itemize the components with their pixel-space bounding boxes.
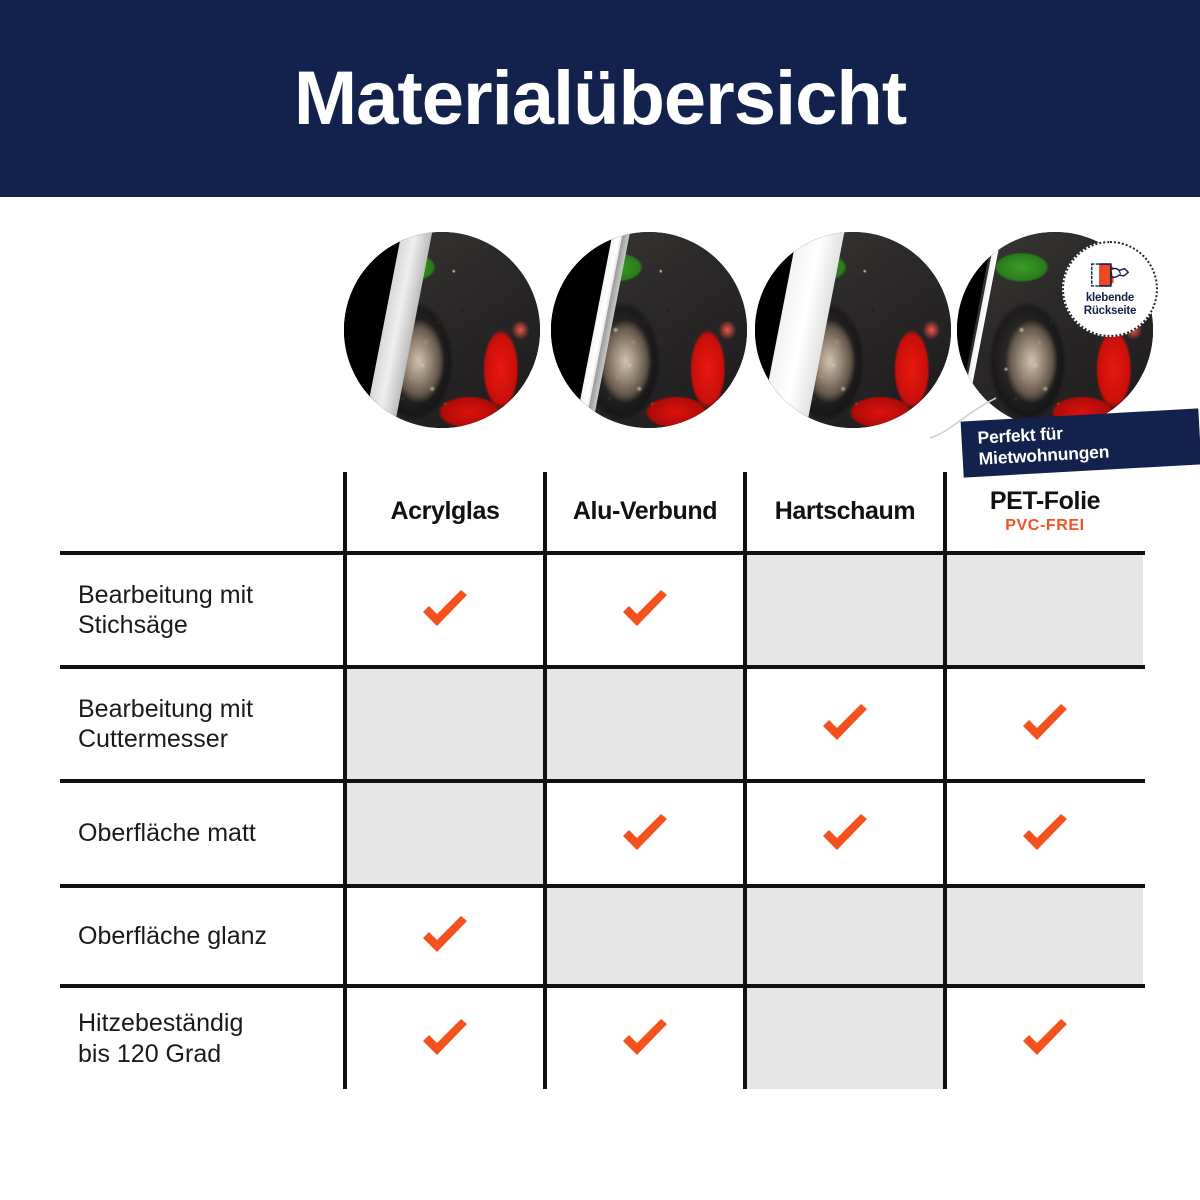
cell-matt-alu-verbund	[543, 783, 743, 884]
cell-glanz-pet-folie	[943, 888, 1143, 984]
row-label-line-1: Oberfläche glanz	[78, 922, 267, 950]
cell-glanz-acrylglas	[343, 888, 543, 984]
table-row-cuttermesser: Bearbeitung mit Cuttermesser	[60, 665, 1145, 779]
product-image-hartschaum	[755, 232, 951, 428]
row-label-line-1: Bearbeitung mit	[78, 581, 253, 609]
adhesive-back-label: klebende Rückseite	[1084, 292, 1137, 318]
column-header-hartschaum: Hartschaum	[743, 472, 943, 551]
cell-matt-pet-folie	[943, 783, 1143, 884]
cell-glanz-hartschaum	[743, 888, 943, 984]
column-header-badge-pvc-frei: PVC-FREI	[1005, 517, 1084, 535]
check-icon	[416, 912, 474, 960]
row-label-line-2: Cuttermesser	[78, 725, 228, 753]
check-icon	[816, 700, 874, 748]
rental-suitable-ribbon: Perfekt für Mietwohnungen	[961, 408, 1200, 477]
check-icon	[616, 810, 674, 858]
row-label-line-1: Hitzebeständig	[78, 1009, 243, 1037]
table-row-oberflaeche-matt: Oberfläche matt	[60, 779, 1145, 884]
cell-hitze-hartschaum	[743, 988, 943, 1089]
cell-cuttermesser-alu-verbund	[543, 669, 743, 779]
row-label: Oberfläche glanz	[60, 888, 343, 984]
table-row-stichsaege: Bearbeitung mit Stichsäge	[60, 551, 1145, 665]
badge-line-1: klebende	[1086, 292, 1134, 304]
header-banner: Materialübersicht	[0, 0, 1200, 197]
adhesive-back-badge: klebende Rückseite	[1062, 241, 1158, 337]
product-photo-circle	[344, 232, 540, 428]
cell-stichsaege-alu-verbund	[543, 555, 743, 665]
column-header-pet-folie: PET-Folie PVC-FREI	[943, 472, 1143, 551]
column-header-alu-verbund: Alu-Verbund	[543, 472, 743, 551]
material-overview-page: Materialübersicht	[0, 0, 1200, 1200]
table-row-hitzebestaendig: Hitzebeständig bis 120 Grad	[60, 984, 1145, 1089]
row-label: Bearbeitung mit Cuttermesser	[60, 669, 343, 779]
cell-hitze-acrylglas	[343, 988, 543, 1089]
column-header-label: PET-Folie	[990, 488, 1100, 514]
column-header-acrylglas: Acrylglas	[343, 472, 543, 551]
header-spacer-cell	[60, 472, 343, 551]
badge-line-2: Rückseite	[1084, 305, 1137, 317]
check-icon	[616, 1015, 674, 1063]
row-label-line-1: Bearbeitung mit	[78, 695, 253, 723]
cell-cuttermesser-pet-folie	[943, 669, 1143, 779]
cell-cuttermesser-hartschaum	[743, 669, 943, 779]
cell-cuttermesser-acrylglas	[343, 669, 543, 779]
product-image-acrylglas	[344, 232, 540, 428]
row-label-line-2: bis 120 Grad	[78, 1040, 221, 1068]
cell-stichsaege-pet-folie	[943, 555, 1143, 665]
product-photo-circle	[755, 232, 951, 428]
cell-hitze-alu-verbund	[543, 988, 743, 1089]
table-header-row: Acrylglas Alu-Verbund Hartschaum PET-Fol…	[60, 472, 1145, 551]
check-icon	[1016, 810, 1074, 858]
check-icon	[616, 586, 674, 634]
product-image-alu-verbund	[551, 232, 747, 428]
cell-hitze-pet-folie	[943, 988, 1143, 1089]
row-label: Oberfläche matt	[60, 783, 343, 884]
check-icon	[416, 586, 474, 634]
check-icon	[816, 810, 874, 858]
cell-stichsaege-acrylglas	[343, 555, 543, 665]
material-comparison-table: Acrylglas Alu-Verbund Hartschaum PET-Fol…	[60, 472, 1145, 1089]
column-header-label: Alu-Verbund	[573, 498, 717, 524]
row-label-line-2: Stichsäge	[78, 611, 188, 639]
row-label: Hitzebeständig bis 120 Grad	[60, 988, 343, 1089]
cell-stichsaege-hartschaum	[743, 555, 943, 665]
row-label: Bearbeitung mit Stichsäge	[60, 555, 343, 665]
product-photo-circle	[551, 232, 747, 428]
page-title: Materialübersicht	[294, 61, 906, 137]
column-header-label: Acrylglas	[391, 498, 500, 524]
cell-matt-acrylglas	[343, 783, 543, 884]
table-row-oberflaeche-glanz: Oberfläche glanz	[60, 884, 1145, 984]
peel-sticker-icon	[1089, 260, 1131, 290]
cell-glanz-alu-verbund	[543, 888, 743, 984]
check-icon	[416, 1015, 474, 1063]
cell-matt-hartschaum	[743, 783, 943, 884]
product-image-row	[0, 232, 1200, 432]
column-header-label: Hartschaum	[775, 498, 916, 524]
row-label-line-1: Oberfläche matt	[78, 819, 256, 847]
check-icon	[1016, 1015, 1074, 1063]
check-icon	[1016, 700, 1074, 748]
